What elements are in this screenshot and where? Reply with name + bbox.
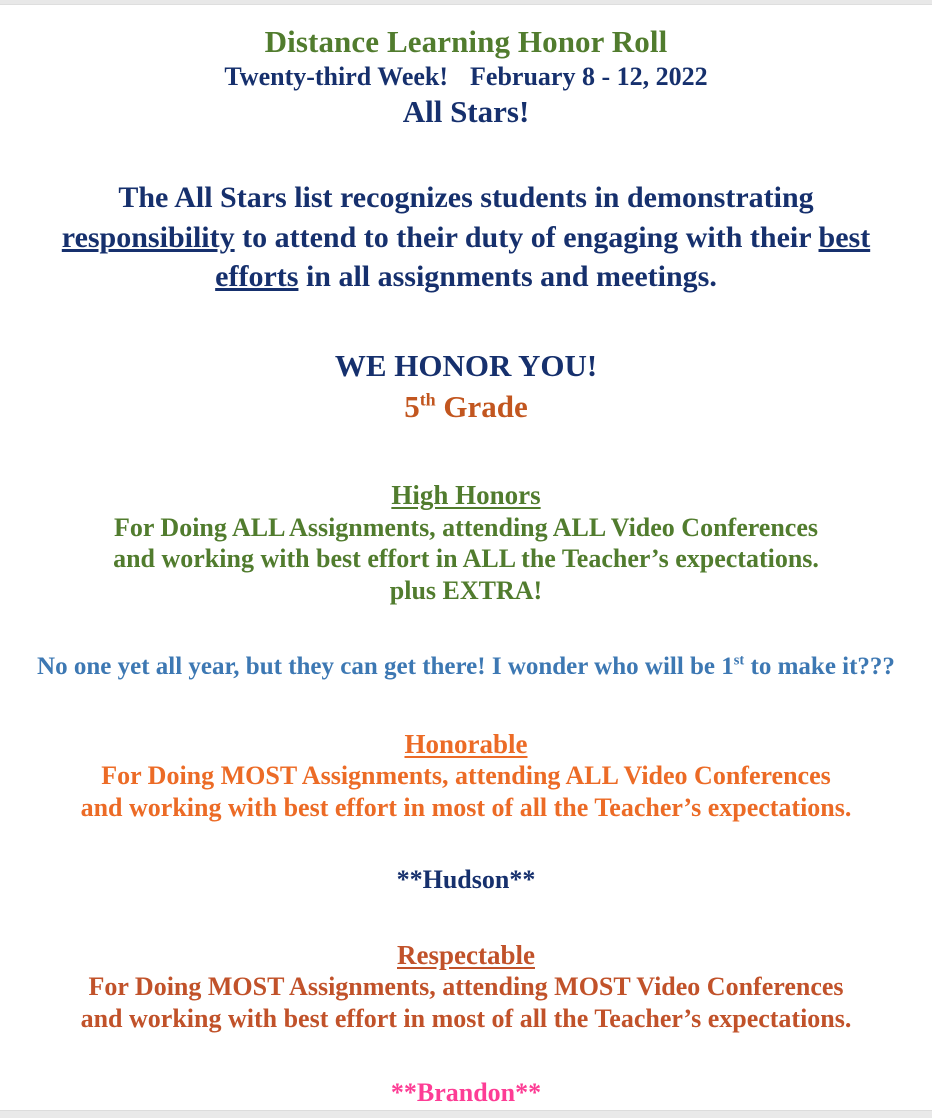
document-content: Distance Learning Honor Roll Twenty-thir… [0,5,932,1108]
week-and-date-line: Twenty-third Week!February 8 - 12, 2022 [0,62,932,93]
grade-ordinal-suffix: th [420,390,436,410]
we-honor-you-banner: WE HONOR YOU! [0,347,932,384]
honorable-criteria: For Doing MOST Assignments, attending AL… [0,760,932,823]
respectable-criteria: For Doing MOST Assignments, attending MO… [0,971,932,1034]
high-honors-note-line-2-prefix: I wonder who will be 1 [492,653,734,680]
section-high-honors: High Honors For Doing ALL Assignments, a… [0,479,932,607]
high-honors-note-line-2: I wonder who will be 1st to make it??? [492,653,895,680]
grade-word: Grade [436,389,528,424]
intro-text-part-2: to attend to their duty of engaging with… [235,221,819,254]
respectable-student-names: **Brandon** [0,1077,932,1108]
intro-emphasis-responsibility: responsibility [62,221,235,254]
page-bottom-edge [0,1110,932,1118]
document-page: Distance Learning Honor Roll Twenty-thir… [0,0,932,1118]
high-honors-criteria: For Doing ALL Assignments, attending ALL… [0,512,932,607]
respectable-criteria-line-1: For Doing MOST Assignments, attending MO… [0,971,932,1003]
high-honors-criteria-line-3: plus EXTRA! [0,575,932,607]
week-label: Twenty-third Week! [224,62,448,91]
intro-text-part-1: The All Stars list recognizes students i… [118,181,813,214]
subtitle-all-stars: All Stars! [0,94,932,130]
page-title: Distance Learning Honor Roll [0,25,932,60]
section-respectable: Respectable For Doing MOST Assignments, … [0,939,932,1035]
honorable-criteria-line-1: For Doing MOST Assignments, attending AL… [0,760,932,792]
intro-paragraph: The All Stars list recognizes students i… [46,178,886,297]
grade-level-label: 5th Grade [0,388,932,425]
high-honors-note: No one yet all year, but they can get th… [0,651,932,682]
section-honorable: Honorable For Doing MOST Assignments, at… [0,728,932,824]
high-honors-criteria-line-1: For Doing ALL Assignments, attending ALL… [0,512,932,544]
honorable-heading: Honorable [0,728,932,760]
high-honors-note-line-2-suffix: to make it??? [744,653,895,680]
date-range: February 8 - 12, 2022 [470,62,708,91]
grade-number: 5 [404,389,420,424]
high-honors-criteria-line-2: and working with best effort in ALL the … [0,543,932,575]
honorable-criteria-line-2: and working with best effort in most of … [0,792,932,824]
respectable-heading: Respectable [0,939,932,971]
respectable-criteria-line-2: and working with best effort in most of … [0,1003,932,1035]
high-honors-heading: High Honors [0,479,932,511]
high-honors-note-line-1: No one yet all year, but they can get th… [37,653,486,680]
honorable-student-names: **Hudson** [0,864,932,895]
first-ordinal-suffix: st [734,652,744,668]
intro-text-part-3: in all assignments and meetings. [298,260,716,293]
